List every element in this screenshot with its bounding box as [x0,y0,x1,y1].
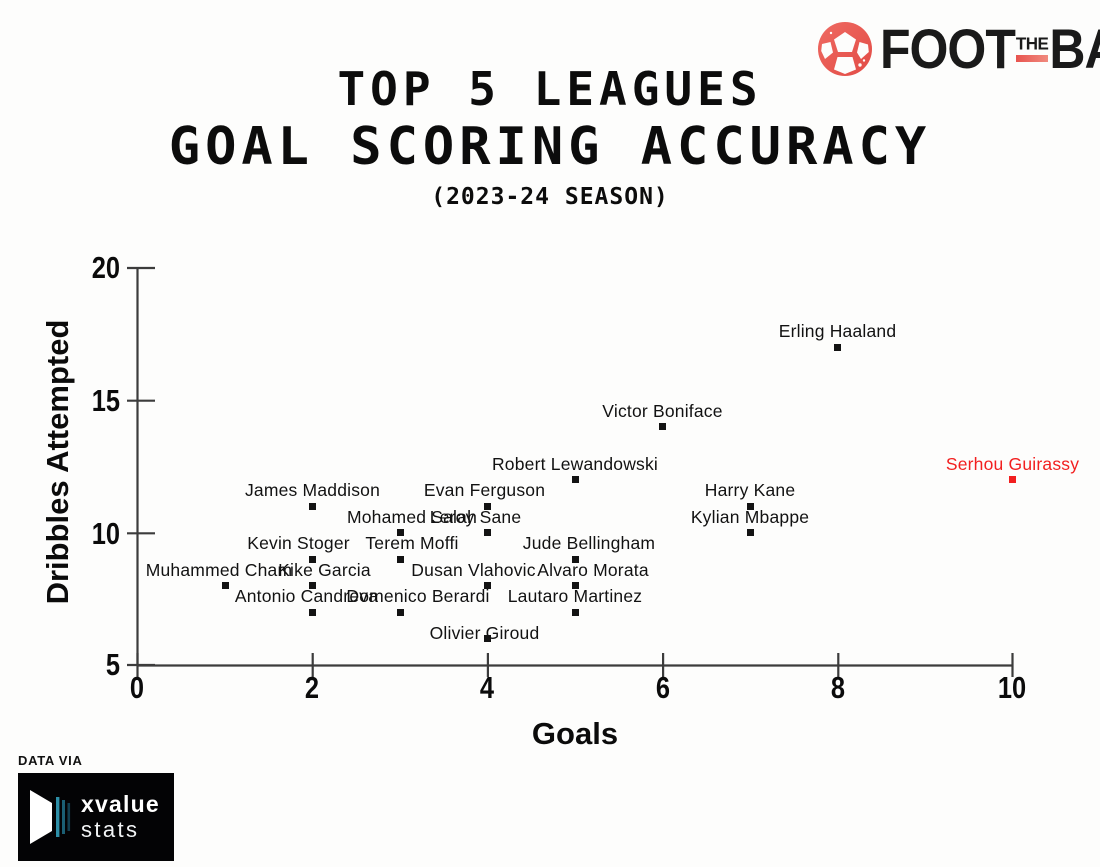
data-point-label: Leroy Sane [430,507,522,528]
data-point-label: James Maddison [245,480,380,501]
data-point-marker [572,609,579,616]
data-point-label: Kevin Stoger [247,533,350,554]
x-tick-label-0: 0 [104,670,170,706]
data-point-marker [309,609,316,616]
data-point-marker [397,556,404,563]
x-tick-label-6: 6 [630,670,696,706]
data-point-marker [572,476,579,483]
x-tick-label-2: 2 [279,670,345,706]
data-point-label: Alvaro Morata [537,560,649,581]
provider-name: xvalue [81,793,160,816]
y-axis-title: Dribbles Attempted [40,252,76,672]
xvalue-stats-logo: xvalue stats [18,773,174,861]
x-tick-label-10: 10 [979,670,1045,706]
data-point-marker [834,344,841,351]
xvalue-wordmark: xvalue stats [81,793,160,841]
data-point-marker [222,582,229,589]
data-point-marker [484,529,491,536]
data-point-label: Victor Boniface [602,401,722,422]
data-point-label: Harry Kane [705,480,796,501]
x-axis-title: Goals [137,716,1013,752]
data-point-marker [309,503,316,510]
x-tick-label-8: 8 [805,670,871,706]
x-tick-label-4: 4 [454,670,520,706]
data-point-label: Erling Haaland [779,321,897,342]
data-point-label: Dusan Vlahovic [411,560,535,581]
data-point-label: Olivier Giroud [430,623,540,644]
data-point-label: Kylian Mbappe [691,507,809,528]
data-point-label: Lautaro Martinez [508,586,643,607]
xvalue-wedge-icon [28,786,72,848]
data-point-label: Serhou Guirassy [946,454,1079,475]
data-point-label: Muhammed Cham [146,560,293,581]
data-point-label: Robert Lewandowski [492,454,658,475]
data-point-marker [659,423,666,430]
data-point-marker [1009,476,1016,483]
data-via-label: DATA VIA [18,753,174,768]
scatter-plot: 20 15 10 5 0 2 4 6 8 10 Dribbles Attempt… [0,0,1100,867]
data-point-label: Terem Moffi [365,533,458,554]
data-point-marker [747,529,754,536]
data-point-label: Evan Ferguson [424,480,545,501]
data-source-block: DATA VIA xvalue stats [18,753,174,861]
data-point-marker [397,609,404,616]
data-point-label: Kike Garcia [278,560,371,581]
provider-subtitle: stats [81,819,160,841]
data-point-label: Jude Bellingham [523,533,655,554]
data-point-label: Domenico Berardi [346,586,489,607]
